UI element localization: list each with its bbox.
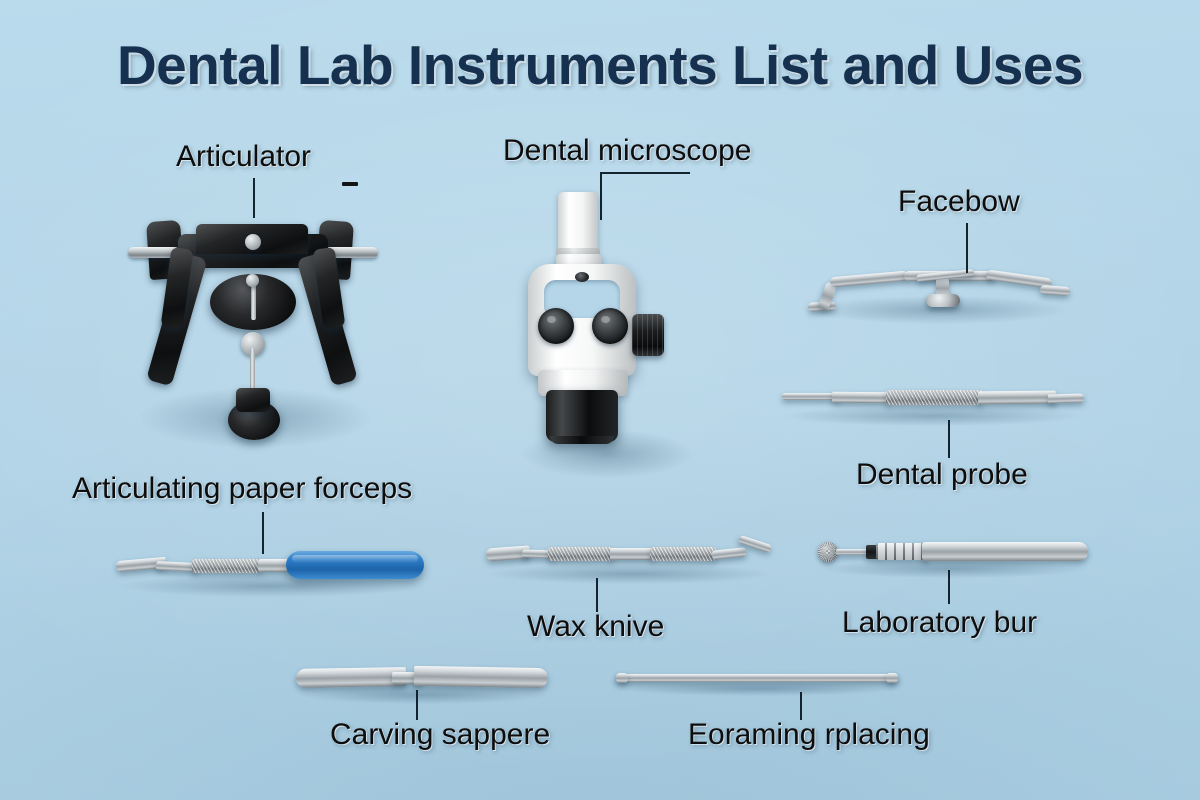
carver-leader-line bbox=[416, 690, 418, 720]
facebow-icon bbox=[808, 258, 1070, 320]
waxknife-leader-line bbox=[596, 578, 598, 612]
waxknife-right-neck bbox=[712, 547, 747, 560]
rod-icon bbox=[616, 672, 898, 684]
articulator-incisal-pin-knob bbox=[245, 234, 261, 250]
carver-label: Carving sappere bbox=[330, 718, 550, 752]
tweezers-serrated-grip[interactable] bbox=[886, 390, 982, 405]
articulator-icon bbox=[128, 212, 378, 447]
microscope-icon bbox=[520, 192, 700, 467]
dental-probe-label: Dental probe bbox=[856, 458, 1028, 492]
tweezers-right-tip bbox=[1048, 394, 1084, 404]
articulator-tick-mark bbox=[342, 182, 358, 186]
waxknife-label: Wax knive bbox=[527, 610, 664, 644]
forceps-icon bbox=[116, 545, 424, 581]
bur-shank bbox=[836, 549, 870, 555]
tweezers-right-body bbox=[978, 391, 1056, 405]
tweezers-left-taper bbox=[832, 392, 890, 404]
microscope-objective-lens bbox=[546, 390, 618, 442]
microscope-leader-vertical bbox=[600, 172, 602, 220]
wax-knife-icon bbox=[486, 534, 774, 570]
forceps-knurled-shaft[interactable] bbox=[192, 559, 262, 573]
rod-shadow bbox=[620, 682, 896, 696]
facebow-right-tip bbox=[1040, 285, 1071, 296]
bur-collet-rings[interactable] bbox=[876, 543, 928, 560]
microscope-leader-horizontal bbox=[600, 172, 690, 174]
facebow-adjust-knob[interactable] bbox=[926, 294, 960, 307]
carver-icon bbox=[296, 662, 548, 692]
rod-label: Eoraming rplacing bbox=[688, 718, 930, 752]
articulator-label: Articulator bbox=[176, 140, 311, 174]
articulator-base-bracket bbox=[236, 388, 270, 412]
waxknife-right-grip[interactable] bbox=[650, 547, 716, 561]
bur-leader-line bbox=[948, 570, 950, 604]
facebow-label: Facebow bbox=[898, 185, 1020, 219]
rod-left-tip bbox=[616, 673, 628, 683]
waxknife-left-grip[interactable] bbox=[548, 547, 614, 561]
carver-right-blade bbox=[414, 666, 548, 688]
rod-shaft bbox=[616, 674, 898, 682]
bur-diamond-head bbox=[818, 542, 838, 562]
rod-leader-line bbox=[800, 692, 802, 720]
facebow-left-arm bbox=[830, 271, 909, 288]
microscope-right-eyepiece bbox=[592, 308, 628, 344]
page-title: Dental Lab Instruments List and Uses bbox=[0, 33, 1200, 97]
bur-label: Laboratory bur bbox=[842, 606, 1037, 640]
bur-handle[interactable] bbox=[922, 542, 1088, 561]
forceps-blue-handle[interactable] bbox=[286, 551, 424, 579]
dental-probe-leader-line bbox=[948, 420, 950, 458]
microscope-label: Dental microscope bbox=[503, 134, 751, 168]
microscope-focus-knob[interactable] bbox=[632, 314, 664, 356]
microscope-focus-knob-ridges bbox=[632, 314, 664, 356]
microscope-left-eyepiece bbox=[538, 308, 574, 344]
microscope-neck bbox=[558, 192, 598, 254]
waxknife-center-shaft bbox=[610, 548, 654, 560]
carver-left-blade bbox=[296, 667, 406, 688]
microscope-indicator-dot bbox=[575, 272, 589, 282]
bur-icon bbox=[818, 536, 1088, 566]
rod-right-tip bbox=[886, 673, 898, 683]
facebow-leader-line bbox=[966, 223, 968, 273]
paper-forceps-label: Articulating paper forceps bbox=[72, 472, 412, 506]
articulator-center-knob bbox=[246, 274, 259, 287]
articulator-leader-line bbox=[253, 178, 255, 218]
tweezers-icon bbox=[782, 386, 1082, 418]
infographic-poster: Dental Lab Instruments List and Uses Art… bbox=[0, 0, 1200, 800]
microscope-lens-rim bbox=[550, 436, 614, 444]
